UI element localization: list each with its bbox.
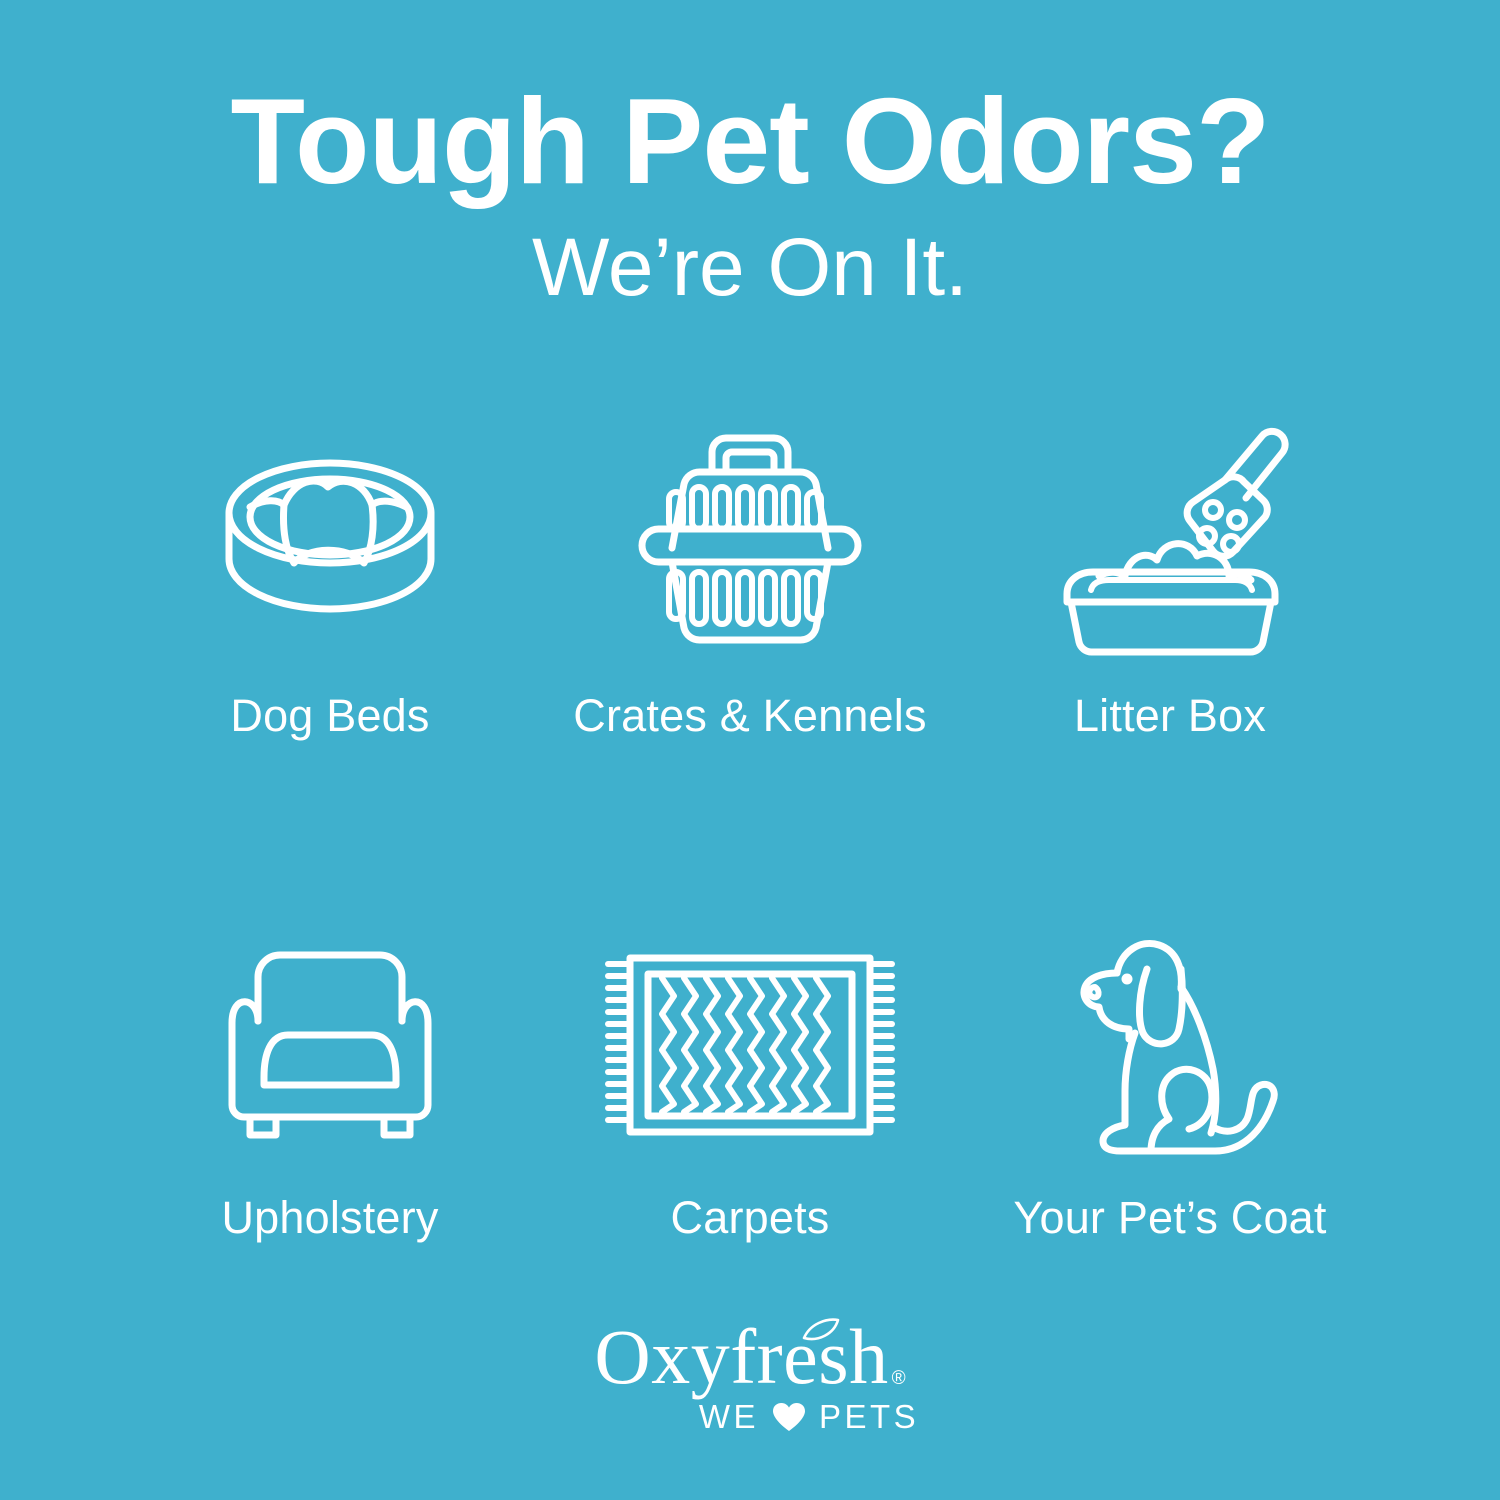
rug-icon bbox=[605, 920, 895, 1170]
brand-logo[interactable]: Oxyfresh ® WE PETS bbox=[0, 1318, 1500, 1436]
logo-wordmark: Oxyfresh bbox=[594, 1318, 888, 1396]
tagline-pets: PETS bbox=[819, 1398, 919, 1436]
grid-item-carpets[interactable]: Carpets bbox=[540, 920, 960, 1244]
dog-bed-icon bbox=[185, 418, 475, 668]
registered-trademark-icon: ® bbox=[892, 1369, 906, 1388]
grid-item-label: Litter Box bbox=[1074, 690, 1266, 742]
grid-item-label: Crates & Kennels bbox=[573, 690, 926, 742]
header-block: Tough Pet Odors? We’re On It. bbox=[0, 78, 1500, 317]
grid-item-label: Your Pet’s Coat bbox=[1013, 1192, 1326, 1244]
grid-item-label: Carpets bbox=[671, 1192, 830, 1244]
tagline-we: WE bbox=[699, 1398, 759, 1436]
litter-box-icon bbox=[1025, 418, 1315, 668]
grid-item-label: Upholstery bbox=[221, 1192, 438, 1244]
logo-wordmark-row: Oxyfresh ® bbox=[594, 1318, 905, 1396]
grid-item-crates-kennels[interactable]: Crates & Kennels bbox=[540, 418, 960, 742]
logo-tagline: WE PETS bbox=[699, 1398, 919, 1436]
grid-item-label: Dog Beds bbox=[230, 690, 429, 742]
grid-item-litter-box[interactable]: Litter Box bbox=[960, 418, 1380, 742]
pet-crate-icon bbox=[605, 418, 895, 668]
subheadline: We’re On It. bbox=[0, 219, 1500, 317]
feature-grid: Dog Beds bbox=[120, 418, 1380, 1244]
heart-icon bbox=[772, 1402, 806, 1433]
grid-item-upholstery[interactable]: Upholstery bbox=[120, 920, 540, 1244]
grid-item-dog-beds[interactable]: Dog Beds bbox=[120, 418, 540, 742]
poster-canvas: Tough Pet Odors? We’re On It. Dog Beds bbox=[0, 0, 1500, 1500]
sitting-dog-icon bbox=[1025, 920, 1315, 1170]
headline: Tough Pet Odors? bbox=[0, 78, 1500, 205]
armchair-icon bbox=[185, 920, 475, 1170]
grid-item-pet-coat[interactable]: Your Pet’s Coat bbox=[960, 920, 1380, 1244]
